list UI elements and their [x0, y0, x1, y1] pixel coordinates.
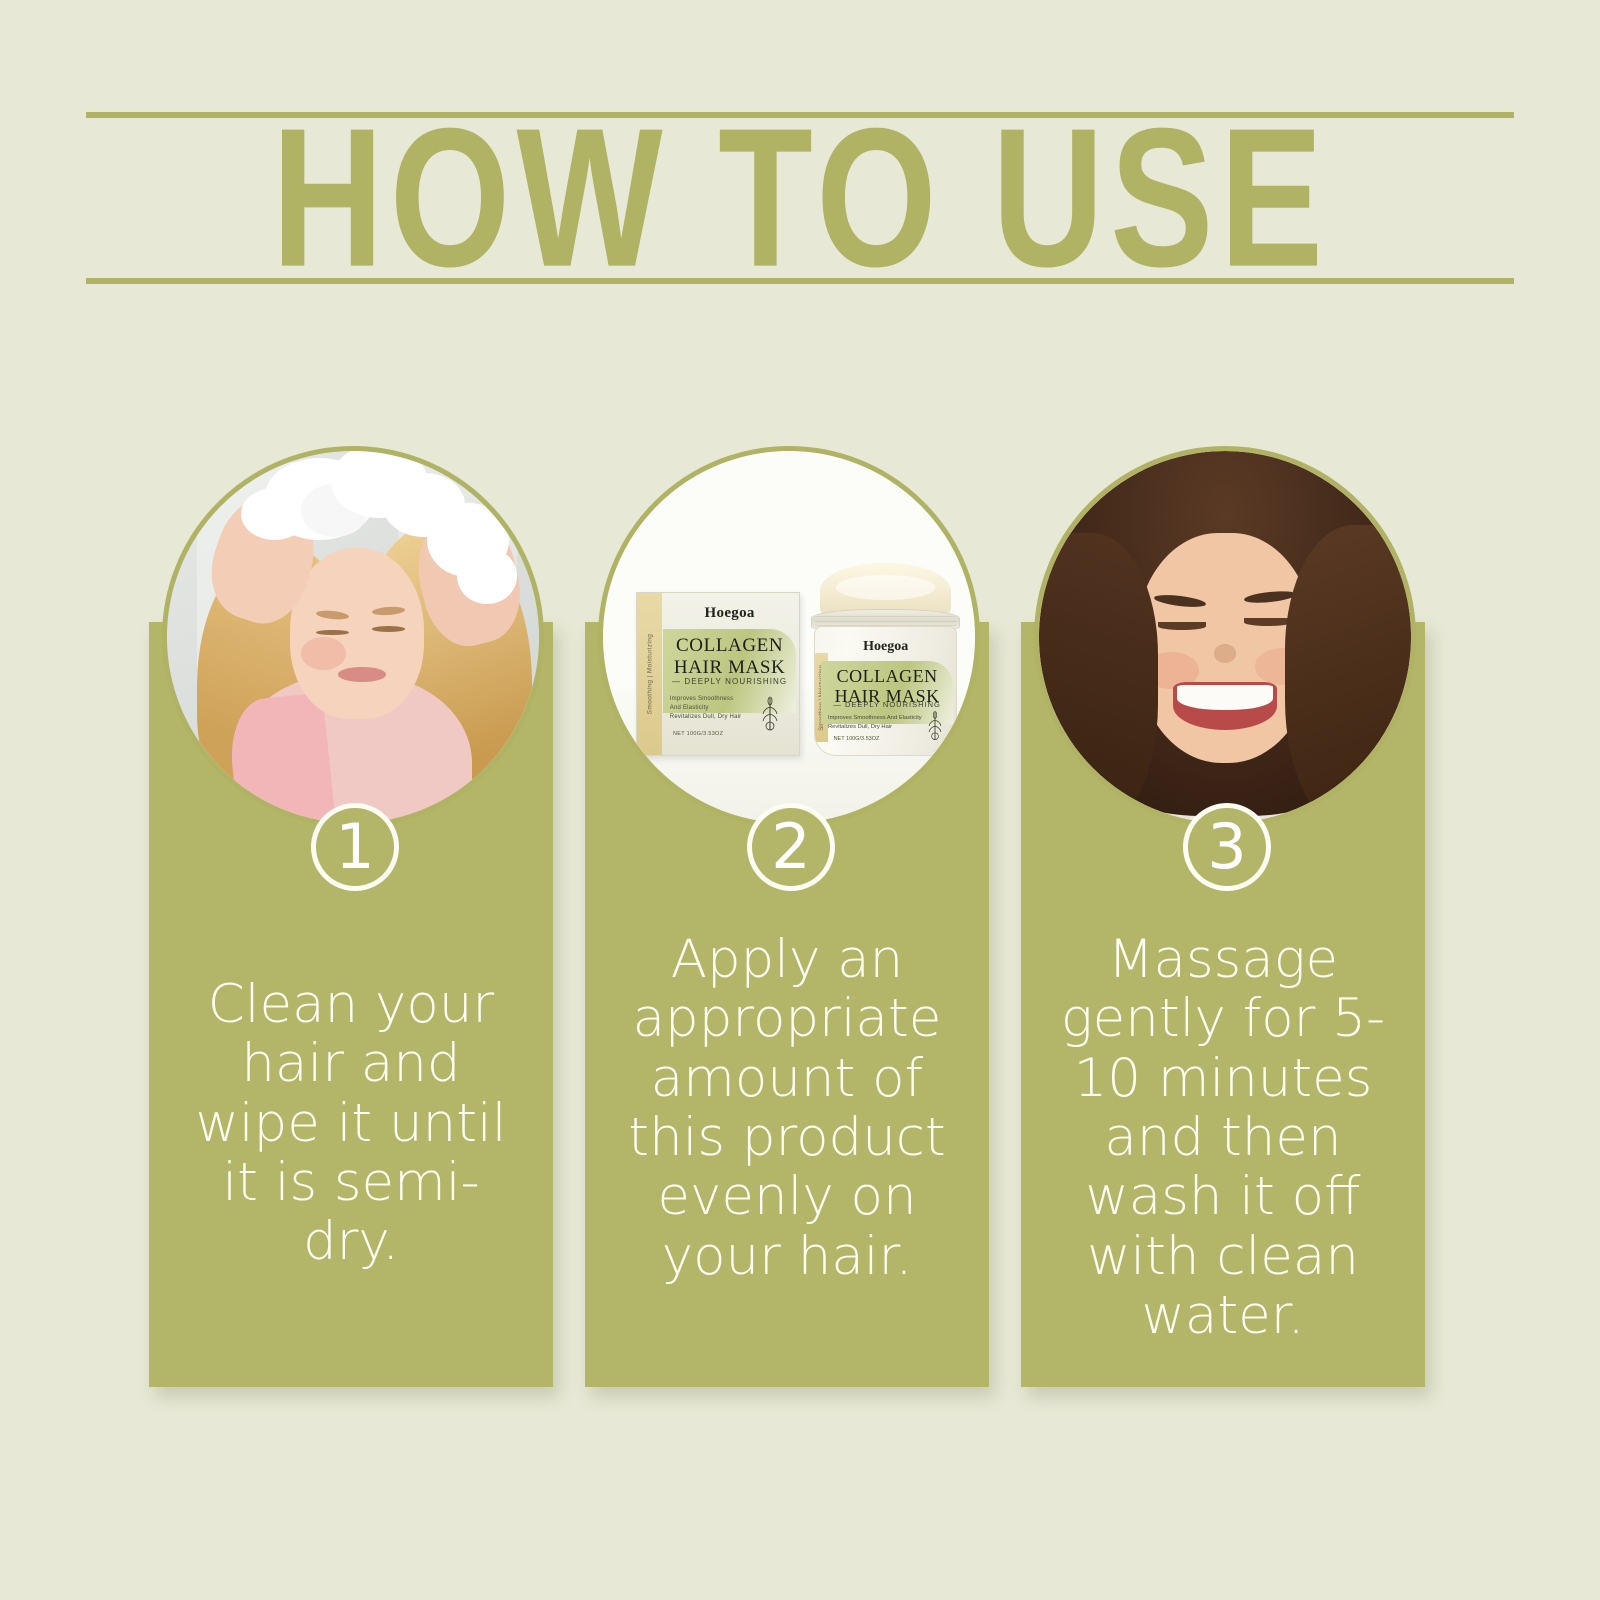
product-box-tagline: — DEEPLY NOURISHING	[667, 677, 793, 686]
product-box-brand: Hoegoa	[667, 605, 793, 622]
step-1-number: 1	[335, 816, 374, 878]
steps-container: 1 Clean your hair and wipe it until it i…	[0, 0, 1600, 1600]
step-1-badge: 1	[311, 803, 399, 891]
jar-net-weight: NET 100G/3.53OZ	[834, 736, 880, 742]
product-box-claim-1: Improves Smoothness	[670, 695, 742, 704]
jar-claim-2: Revitalizes Dull, Dry Hair	[828, 723, 922, 732]
product-box: Smoothing | Moisturizing Hoegoa COLLAGEN…	[636, 592, 800, 756]
step-3-number: 3	[1207, 816, 1246, 878]
jar-wheat-sprig-icon	[922, 709, 948, 743]
step-1-photo	[162, 446, 544, 828]
jar-tagline: — DEEPLY NOURISHING	[824, 700, 951, 709]
jar-brand: Hoegoa	[815, 639, 956, 655]
step-3-badge: 3	[1183, 803, 1271, 891]
jar-claims: Improves Smoothness And Elasticity Revit…	[828, 714, 922, 731]
step-2-number: 2	[771, 816, 810, 878]
product-box-claim-2: And Elasticity	[670, 704, 742, 713]
product-box-claims: Improves Smoothness And Elasticity Revit…	[670, 695, 742, 722]
step-1-caption: Clean your hair and wipe it until it is …	[179, 975, 523, 1272]
step-2-photo: Smoothing | Moisturizing Hoegoa COLLAGEN…	[598, 446, 980, 828]
step-2-caption: Apply an appropriate amount of this prod…	[615, 930, 959, 1286]
product-box-title: COLLAGEN HAIR MASK	[667, 635, 793, 678]
product-box-claim-3: Revitalizes Dull, Dry Hair	[670, 713, 742, 722]
product-box-title-line2: HAIR MASK	[667, 657, 793, 678]
product-box-spine-text: Smoothing | Moisturizing	[646, 634, 653, 715]
product-box-spine: Smoothing | Moisturizing	[637, 593, 661, 755]
step-3-caption: Massage gently for 5-10 minutes and then…	[1051, 930, 1395, 1346]
jar-title-line1: COLLAGEN	[824, 666, 951, 687]
product-jar: Smoothing | Moisturizing Hoegoa COLLAGEN…	[811, 563, 960, 756]
step-2-badge: 2	[747, 803, 835, 891]
jar-body: Smoothing | Moisturizing Hoegoa COLLAGEN…	[814, 626, 957, 756]
product-box-net-weight: NET 100G/3.53OZ	[673, 731, 723, 737]
jar-claim-1: Improves Smoothness And Elasticity	[828, 714, 922, 723]
step-3-photo	[1034, 446, 1416, 828]
wheat-sprig-icon	[755, 694, 785, 734]
product-box-title-line1: COLLAGEN	[667, 635, 793, 656]
